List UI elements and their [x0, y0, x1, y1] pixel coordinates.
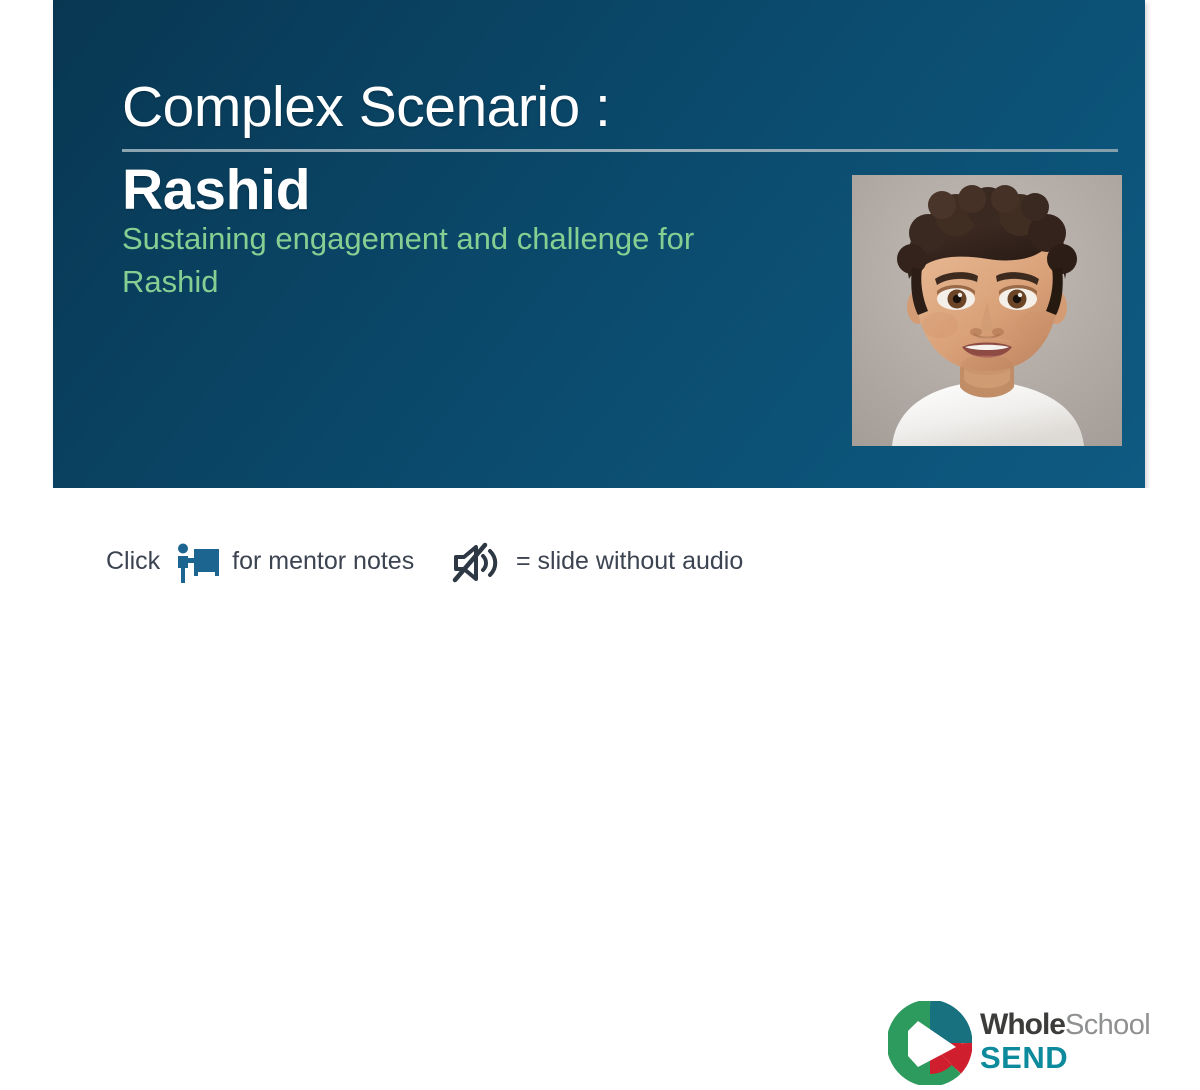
no-audio-legend: = slide without audio [452, 540, 743, 582]
slide-footer: Click for mentor notes [0, 488, 1200, 630]
slide-subtitle: Sustaining engagement and challenge for … [122, 218, 722, 304]
student-portrait-photo [852, 175, 1122, 446]
page-title-line-2: Rashid [122, 161, 822, 221]
title-panel: Complex Scenario : Rashid Sustaining eng… [53, 0, 1145, 488]
whole-school-send-wordmark: WholeSchool SEND [980, 1010, 1150, 1073]
portrait-illustration [852, 175, 1122, 446]
mentor-presenter-icon[interactable] [174, 542, 220, 584]
slide-canvas: Complex Scenario : Rashid Sustaining eng… [0, 0, 1200, 630]
title-block: Complex Scenario : Rashid [122, 78, 822, 221]
speaker-muted-icon [452, 542, 506, 584]
legend-click-label: Click [106, 547, 160, 576]
title-divider-rule [122, 149, 1118, 152]
mentor-notes-legend: Click for mentor notes [106, 540, 414, 582]
logo-word-whole: Whole [980, 1008, 1065, 1041]
page-title-line-1: Complex Scenario : [122, 78, 822, 138]
legend-no-audio-label: = slide without audio [516, 547, 743, 576]
whole-school-send-logo: WholeSchool SEND [888, 996, 1118, 1088]
logo-word-send: SEND [980, 1042, 1150, 1073]
whole-school-send-circle-logo [888, 1001, 972, 1085]
legend-mentor-notes-label: for mentor notes [232, 547, 414, 576]
logo-word-school: School [1065, 1009, 1150, 1041]
